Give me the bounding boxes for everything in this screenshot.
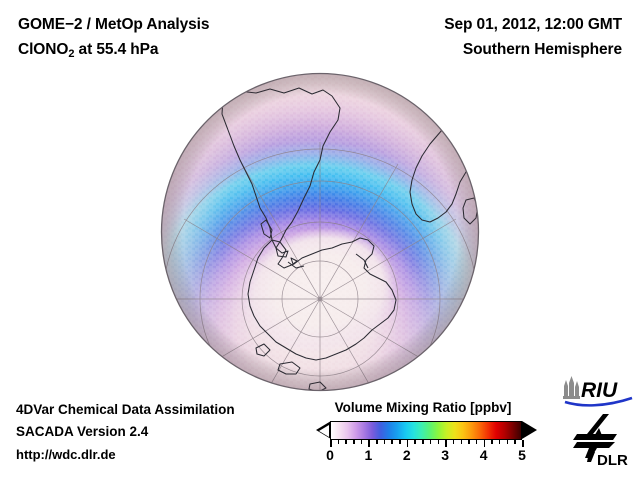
colorbar-minor-tick bbox=[514, 440, 516, 444]
colorbar-major-tick bbox=[407, 440, 409, 447]
colorbar-minor-tick bbox=[422, 440, 424, 444]
colorbar-gradient bbox=[331, 422, 521, 439]
colorbar-ticks bbox=[330, 440, 522, 447]
colorbar-major-tick bbox=[522, 440, 524, 447]
colorbar-minor-tick bbox=[461, 440, 463, 444]
species-level: at 55.4 hPa bbox=[74, 41, 158, 58]
riu-logo: RIU bbox=[561, 374, 635, 408]
colorbar[interactable] bbox=[330, 421, 522, 440]
region-label: Southern Hemisphere bbox=[463, 41, 622, 59]
colorbar-minor-tick bbox=[399, 440, 401, 444]
colorbar-minor-tick bbox=[438, 440, 440, 444]
page-title-species: ClONO2 at 55.4 hPa bbox=[18, 41, 158, 60]
colorbar-minor-tick bbox=[491, 440, 493, 444]
footer-link-wdc[interactable]: http://wdc.dlr.de bbox=[16, 447, 116, 462]
colorbar-under-arrow-fill bbox=[319, 425, 329, 437]
globe-svg bbox=[160, 72, 480, 392]
colorbar-minor-tick bbox=[353, 440, 355, 444]
colorbar-major-tick bbox=[445, 440, 447, 447]
dlr-logo: DLR bbox=[563, 412, 635, 470]
colorbar-over-arrow bbox=[522, 421, 537, 439]
colorbar-minor-tick bbox=[391, 440, 393, 444]
species-name: ClONO bbox=[18, 41, 68, 58]
colorbar-major-tick bbox=[330, 440, 332, 447]
colorbar-minor-tick bbox=[499, 440, 501, 444]
colorbar-minor-tick bbox=[361, 440, 363, 444]
colorbar-minor-tick bbox=[453, 440, 455, 444]
colorbar-minor-tick bbox=[507, 440, 509, 444]
colorbar-minor-tick bbox=[476, 440, 478, 444]
colorbar-tick-label: 1 bbox=[364, 447, 372, 463]
riu-towers-icon bbox=[563, 376, 580, 399]
page-title-instrument: GOME−2 / MetOp Analysis bbox=[18, 16, 209, 34]
timestamp-label: Sep 01, 2012, 12:00 GMT bbox=[444, 16, 622, 34]
colorbar-major-tick bbox=[368, 440, 370, 447]
colorbar-minor-tick bbox=[384, 440, 386, 444]
colorbar-minor-tick bbox=[468, 440, 470, 444]
colorbar-tick-labels: 012345 bbox=[330, 447, 522, 467]
colorbar-title: Volume Mixing Ratio [ppbv] bbox=[308, 400, 538, 415]
colorbar-minor-tick bbox=[345, 440, 347, 444]
riu-wordmark: RIU bbox=[581, 379, 618, 402]
colorbar-minor-tick bbox=[430, 440, 432, 444]
footer-line-assimilation: 4DVar Chemical Data Assimilation bbox=[16, 402, 235, 417]
colorbar-tick-label: 3 bbox=[441, 447, 449, 463]
colorbar-tick-label: 4 bbox=[480, 447, 488, 463]
colorbar-minor-tick bbox=[338, 440, 340, 444]
colorbar-major-tick bbox=[484, 440, 486, 447]
colorbar-minor-tick bbox=[376, 440, 378, 444]
globe-map bbox=[160, 72, 480, 392]
colorbar-tick-label: 0 bbox=[326, 447, 334, 463]
colorbar-tick-label: 5 bbox=[518, 447, 526, 463]
footer-line-version: SACADA Version 2.4 bbox=[16, 424, 148, 439]
colorbar-tick-label: 2 bbox=[403, 447, 411, 463]
colorbar-minor-tick bbox=[414, 440, 416, 444]
dlr-wordmark: DLR bbox=[597, 452, 628, 469]
